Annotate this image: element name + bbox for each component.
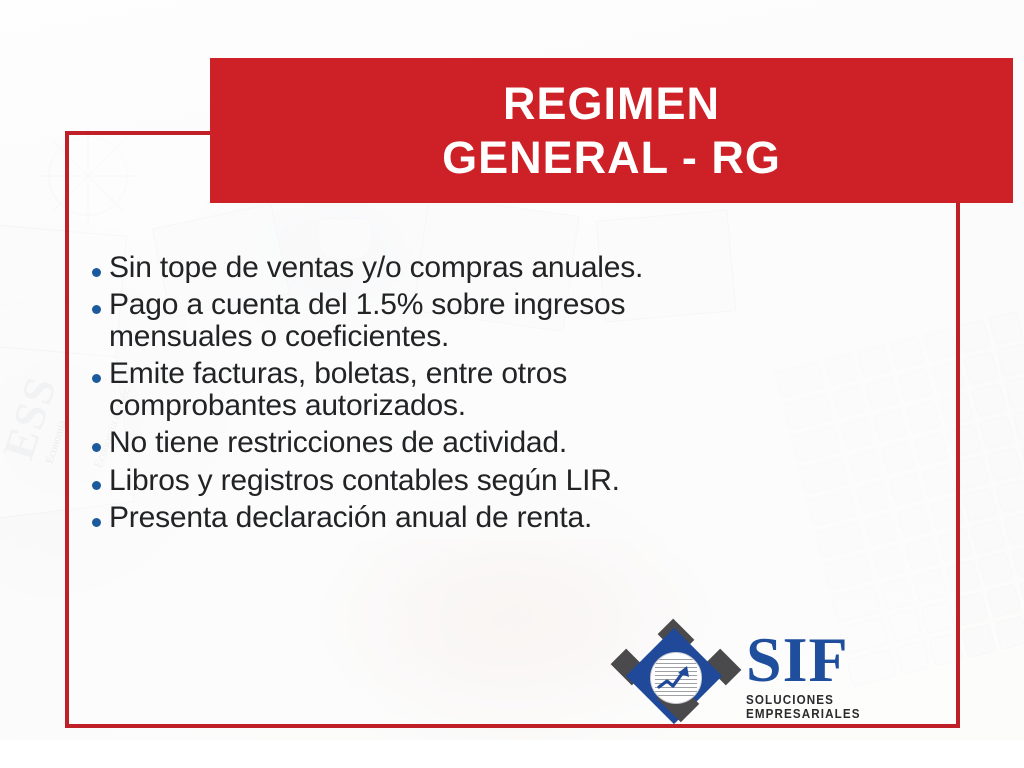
sif-wordmark: SIF SOLUCIONES EMPRESARIALES (746, 631, 942, 721)
title-line-2: GENERAL - RG (442, 131, 781, 184)
bullet-dot-icon (92, 374, 101, 383)
emblem-chart-disc (650, 652, 702, 704)
sif-tagline: SOLUCIONES EMPRESARIALES (746, 693, 928, 721)
bullet-text: Pago a cuenta del 1.5% sobre ingresos me… (109, 289, 625, 353)
sif-logo: SIF SOLUCIONES EMPRESARIALES (612, 628, 942, 724)
bullet-list: Sin tope de ventas y/o compras anuales. … (92, 252, 922, 539)
title-banner: REGIMEN GENERAL - RG (210, 58, 1013, 203)
list-item: Presenta declaración anual de renta. (92, 502, 922, 534)
bullet-text: Presenta declaración anual de renta. (109, 502, 592, 534)
bullet-dot-icon (92, 518, 101, 527)
sif-name: SIF (746, 631, 942, 690)
title-line-1: REGIMEN (503, 77, 720, 130)
list-item: Pago a cuenta del 1.5% sobre ingresos me… (92, 289, 922, 353)
list-item: No tiene restricciones de actividad. (92, 427, 922, 459)
bullet-dot-icon (92, 481, 101, 490)
bullet-dot-icon (92, 268, 101, 277)
slide-canvas: ESS Economia Economia del sec REGIMEN GE… (0, 0, 1024, 768)
bullet-text: Libros y registros contables según LIR. (109, 465, 620, 497)
bullet-dot-icon (92, 305, 101, 314)
bullet-text: No tiene restricciones de actividad. (109, 427, 567, 459)
list-item: Libros y registros contables según LIR. (92, 465, 922, 497)
list-item: Sin tope de ventas y/o compras anuales. (92, 252, 922, 284)
list-item: Emite facturas, boletas, entre otros com… (92, 358, 922, 422)
bullet-text: Emite facturas, boletas, entre otros com… (109, 358, 567, 422)
sif-diamond-emblem-icon (612, 630, 740, 722)
growth-arrow-icon (651, 653, 701, 703)
bullet-text: Sin tope de ventas y/o compras anuales. (109, 252, 643, 284)
bullet-dot-icon (92, 443, 101, 452)
